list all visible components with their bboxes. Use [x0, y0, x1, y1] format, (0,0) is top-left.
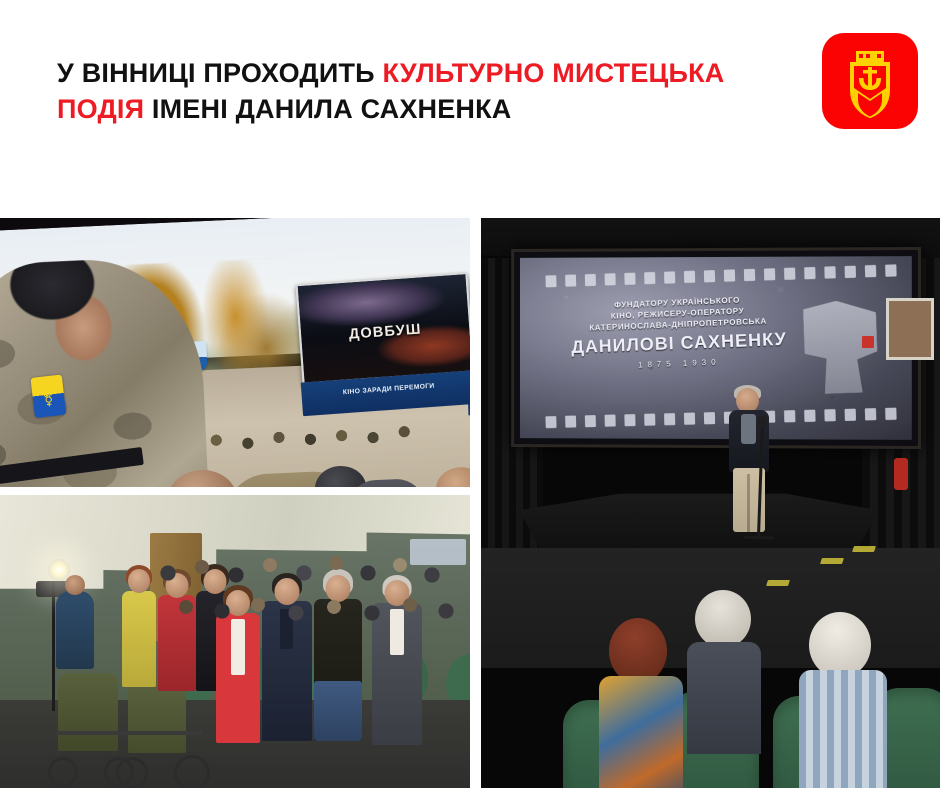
headline-plain-1: У ВІННИЦІ ПРОХОДИТЬ — [57, 58, 382, 88]
wheelchair — [116, 725, 208, 783]
patterned-blouse — [599, 676, 683, 788]
speaker-person — [727, 388, 771, 538]
ukraine-flag-patch: ⚧ — [30, 374, 66, 418]
viewer-man-white-hair — [799, 612, 887, 788]
hair — [809, 612, 871, 678]
cinema-hall-plaque-photo: ФУНДАТОРУ УКРАЇНСЬКОГО КІНО, РЕЖИСЕРУ-ОП… — [481, 218, 940, 788]
jacket — [687, 642, 761, 754]
logo-badge — [822, 33, 918, 129]
exit-sign-icon — [862, 336, 874, 348]
tryzub-icon: ⚧ — [42, 391, 55, 408]
viewer-man-grey — [687, 590, 761, 750]
fire-extinguisher — [894, 458, 908, 490]
monitor-glow — [410, 539, 466, 565]
banner-text: КІНО ЗАРАДИ ПЕРЕМОГИ — [301, 380, 470, 399]
page-title: У ВІННИЦІ ПРОХОДИТЬ КУЛЬТУРНО МИСТЕЦЬКА … — [57, 55, 777, 127]
memorial-plaque: ФУНДАТОРУ УКРАЇНСЬКОГО КІНО, РЕЖИСЕРУ-ОП… — [520, 256, 912, 440]
wall-picture — [886, 298, 934, 360]
floor-marker-tape — [766, 580, 790, 586]
hair — [695, 590, 751, 648]
cinema-screen: ФУНДАТОРУ УКРАЇНСЬКОГО КІНО, РЕЖИСЕРУ-ОП… — [511, 247, 921, 449]
camera-tripod — [52, 581, 55, 711]
photo-content: ДОВБУШ КІНО ЗАРАДИ ПЕРЕМОГИ ⚧ — [0, 218, 470, 487]
plaque-inscription: ФУНДАТОРУ УКРАЇНСЬКОГО КІНО, РЕЖИСЕРУ-ОП… — [558, 292, 800, 372]
checked-shirt — [799, 670, 887, 788]
camera-operator — [56, 591, 94, 669]
outdoor-led-screen: ДОВБУШ — [295, 272, 470, 385]
headline-line-2: ПОДІЯ ІМЕНІ ДАНИЛА САХНЕНКА — [57, 91, 777, 127]
audience-anthem-photo — [0, 495, 470, 788]
floor-marker-tape — [820, 558, 844, 564]
headline-accent-1: КУЛЬТУРНО МИСТЕЦЬКА — [382, 58, 724, 88]
floor-marker-tape — [852, 546, 876, 552]
headline-accent-2: ПОДІЯ — [57, 94, 144, 124]
headline-plain-2: ІМЕНІ ДАНИЛА САХНЕНКА — [144, 94, 511, 124]
headline-line-1: У ВІННИЦІ ПРОХОДИТЬ КУЛЬТУРНО МИСТЕЦЬКА — [57, 55, 777, 91]
outdoor-screening-photo: ДОВБУШ КІНО ЗАРАДИ ПЕРЕМОГИ ⚧ — [0, 218, 470, 487]
coat-of-arms-icon — [822, 33, 918, 129]
viewer-woman — [599, 618, 683, 788]
vinnytsia-coat-of-arms-logo[interactable] — [822, 33, 918, 129]
hair — [609, 618, 667, 684]
shirt — [741, 414, 756, 444]
